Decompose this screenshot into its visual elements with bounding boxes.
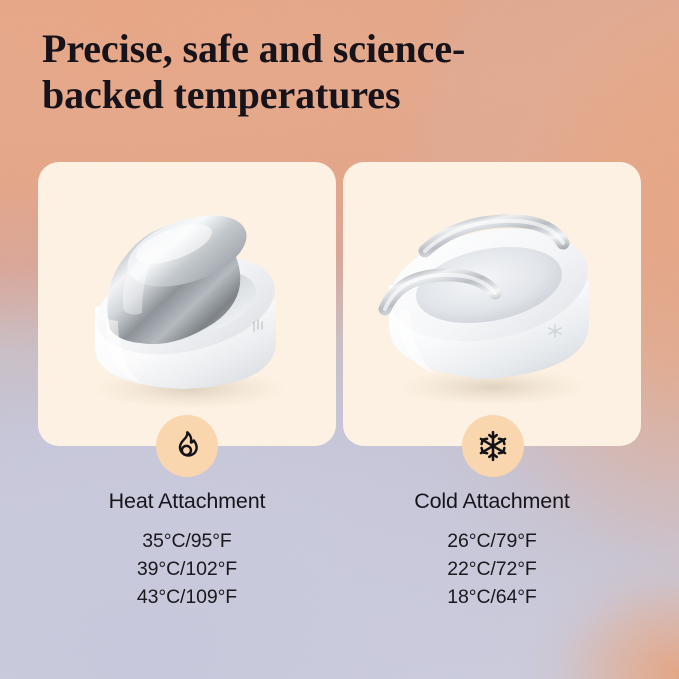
product-image-heat-attachment [38,162,336,446]
list-item: 35°C/95°F [37,527,337,555]
list-item: 39°C/102°F [37,555,337,583]
card-heat-attachment[interactable] [38,162,336,446]
badge-heat [156,415,218,477]
list-item: 26°C/79°F [342,527,642,555]
caption-cold-attachment: Cold Attachment 26°C/79°F 22°C/72°F 18°C… [342,489,642,612]
list-item: 22°C/72°F [342,555,642,583]
heat-attachment-title: Heat Attachment [37,489,337,515]
product-image-cold-attachment [343,162,641,446]
list-item: 18°C/64°F [342,583,642,611]
cold-attachment-title: Cold Attachment [342,489,642,515]
page-title: Precise, safe and science- backed temper… [42,26,602,119]
caption-heat-attachment: Heat Attachment 35°C/95°F 39°C/102°F 43°… [37,489,337,612]
snowflake-icon [476,429,510,463]
badge-cold [462,415,524,477]
card-cold-attachment[interactable] [343,162,641,446]
flame-icon [170,429,204,463]
cold-temperature-list: 26°C/79°F 22°C/72°F 18°C/64°F [342,527,642,612]
attachment-cards-row [38,162,641,446]
list-item: 43°C/109°F [37,583,337,611]
heat-temperature-list: 35°C/95°F 39°C/102°F 43°C/109°F [37,527,337,612]
